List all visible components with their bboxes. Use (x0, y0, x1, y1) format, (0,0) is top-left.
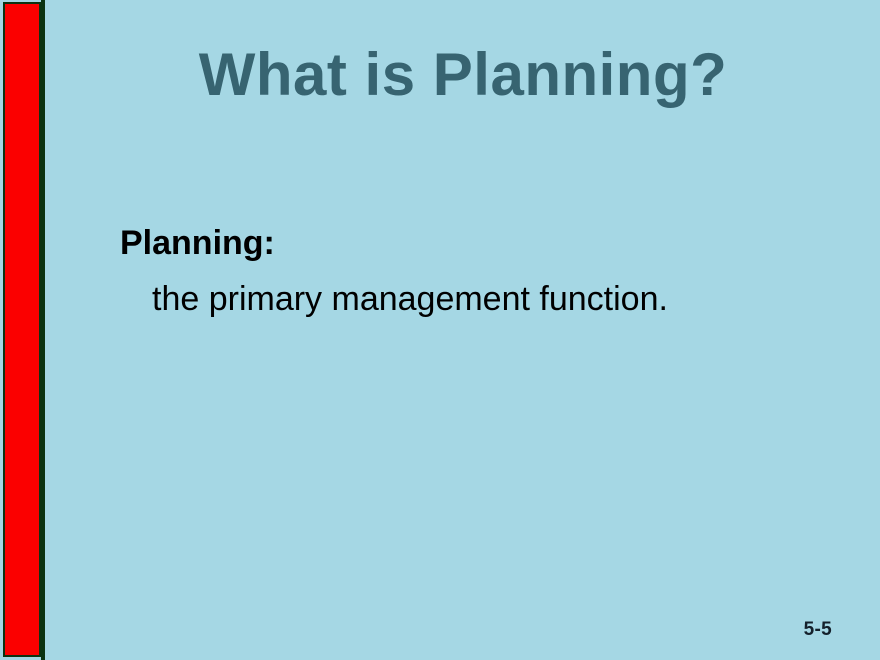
slide-title: What is Planning? (46, 43, 880, 106)
body-term-label: Planning: (120, 222, 860, 265)
slide-canvas: What is Planning? Planning: the primary … (0, 0, 880, 660)
red-accent-bar (3, 2, 41, 657)
page-number: 5-5 (804, 619, 832, 641)
slide-body: Planning: the primary management functio… (120, 222, 860, 320)
left-accent-decoration (0, 0, 46, 660)
body-definition-text: the primary management function. (152, 278, 860, 321)
dark-green-separator-stripe (41, 0, 45, 660)
